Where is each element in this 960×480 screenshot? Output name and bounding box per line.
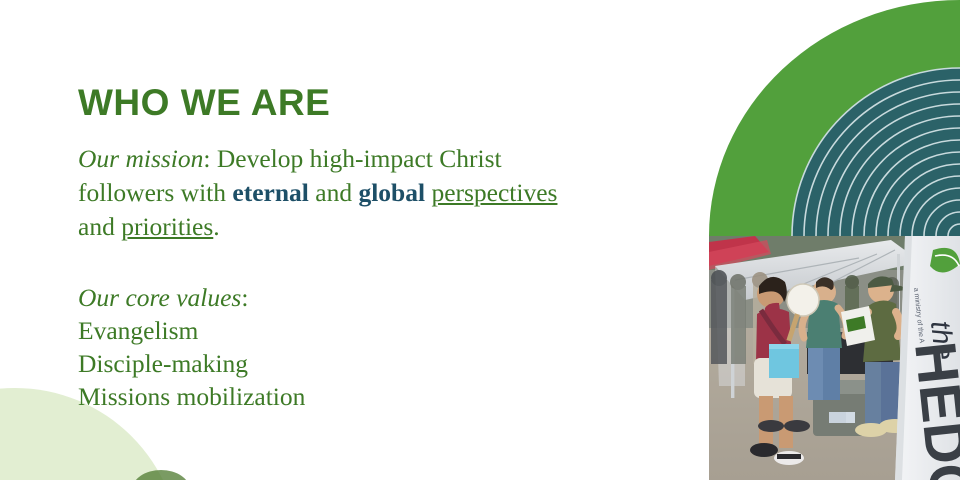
mission-between: and bbox=[78, 212, 121, 241]
list-item: Missions mobilization bbox=[78, 380, 678, 413]
list-item: Disciple-making bbox=[78, 347, 678, 380]
mission-period: . bbox=[213, 212, 219, 241]
mission-bold-eternal: eternal bbox=[232, 178, 308, 207]
core-values-block: Our core values: Evangelism Disciple-mak… bbox=[78, 281, 678, 413]
core-values-list: Evangelism Disciple-making Missions mobi… bbox=[78, 314, 678, 413]
mission-mid: and bbox=[309, 178, 359, 207]
slide-text-column: WHO WE ARE Our mission: Develop high-imp… bbox=[78, 82, 678, 413]
page-title: WHO WE ARE bbox=[78, 82, 678, 124]
core-values-colon: : bbox=[241, 283, 248, 312]
mission-colon: : bbox=[203, 144, 216, 173]
mission-statement: Our mission: Develop high-impact Christ … bbox=[78, 142, 578, 244]
core-values-label: Our core values bbox=[78, 283, 241, 312]
teal-concentric-arcs bbox=[709, 0, 960, 236]
slide-canvas: the HEDG a ministry of the A WHO WE ARE … bbox=[0, 0, 960, 480]
outreach-photo: the HEDG a ministry of the A bbox=[709, 236, 960, 480]
core-values-heading: Our core values: bbox=[78, 281, 678, 314]
list-item: Evangelism bbox=[78, 314, 678, 347]
mission-label: Our mission bbox=[78, 144, 203, 173]
mission-underline-perspectives: perspectives bbox=[431, 178, 557, 207]
mission-underline-priorities: priorities bbox=[121, 212, 213, 241]
mission-bold-global: global bbox=[358, 178, 425, 207]
